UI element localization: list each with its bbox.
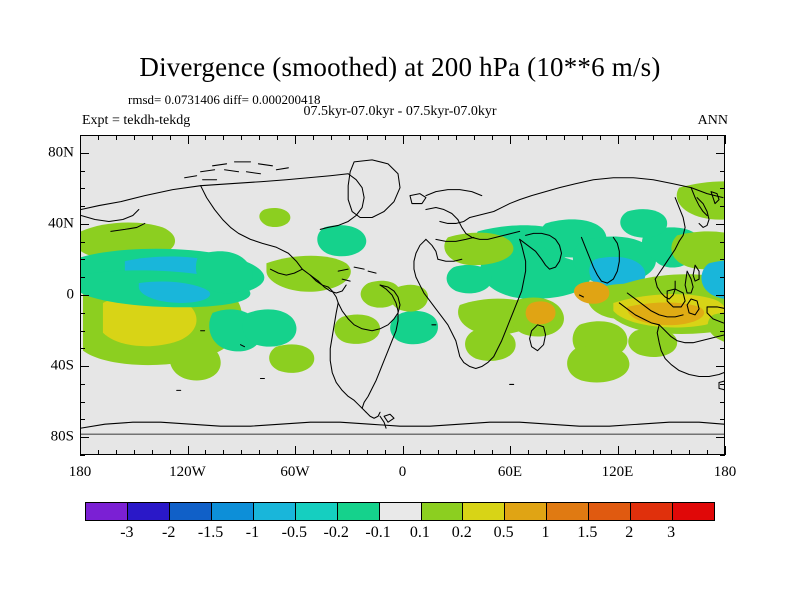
x-tick xyxy=(582,450,583,455)
colorbar-segment-8[interactable] xyxy=(422,503,464,520)
x-tick-top xyxy=(313,135,314,140)
x-tick xyxy=(80,446,81,455)
x-tick xyxy=(134,450,135,455)
y-tick xyxy=(80,171,85,172)
x-tick-top xyxy=(349,135,350,140)
x-tick xyxy=(170,450,171,455)
y-axis-label: 0 xyxy=(36,287,74,304)
x-tick xyxy=(671,450,672,455)
colorbar-tick-label: 2 xyxy=(625,524,633,542)
colorbar-tick-label: -0.2 xyxy=(324,524,349,542)
x-tick-top xyxy=(331,135,332,140)
x-tick xyxy=(635,450,636,455)
contour-satl-green-1 xyxy=(170,343,221,380)
colorbar-tick-label: -1.5 xyxy=(198,524,223,542)
y-tick-right xyxy=(716,224,725,225)
x-tick-top xyxy=(546,135,547,140)
x-tick xyxy=(205,450,206,455)
contour-africa-south-green xyxy=(465,328,516,360)
colorbar-segment-13[interactable] xyxy=(631,503,673,520)
colorbar-segment-10[interactable] xyxy=(505,503,547,520)
y-tick-right xyxy=(720,171,725,172)
x-tick xyxy=(188,446,189,455)
y-tick xyxy=(80,331,85,332)
x-tick-top xyxy=(635,135,636,140)
x-tick-top xyxy=(367,135,368,140)
x-tick-top xyxy=(492,135,493,140)
x-tick xyxy=(600,450,601,455)
experiment-label: Expt = tekdh-tekdg xyxy=(82,113,190,129)
contour-namerica-small xyxy=(259,208,290,227)
x-axis-label: 120E xyxy=(602,464,634,481)
x-tick xyxy=(313,450,314,455)
x-axis-label: 120W xyxy=(169,464,206,481)
contour-japan-cyan xyxy=(620,209,667,238)
x-tick-top xyxy=(223,135,224,140)
x-tick-top xyxy=(385,135,386,140)
y-tick-right xyxy=(720,242,725,243)
y-tick xyxy=(80,224,89,225)
y-tick xyxy=(80,402,85,403)
x-tick xyxy=(223,450,224,455)
x-tick-top xyxy=(456,135,457,140)
x-tick xyxy=(259,450,260,455)
colorbar-segment-1[interactable] xyxy=(128,503,170,520)
y-tick xyxy=(80,259,85,260)
y-tick-right xyxy=(720,419,725,420)
colorbar-tick-label: 0.1 xyxy=(410,524,430,542)
x-tick xyxy=(403,446,404,455)
contour-eq-atlantic-small xyxy=(391,285,429,312)
contour-spac-cyan xyxy=(242,309,296,346)
x-tick-top xyxy=(528,135,529,140)
x-tick-top xyxy=(295,135,296,144)
contour-samerica-green-2 xyxy=(269,344,314,373)
y-tick-right xyxy=(720,384,725,385)
x-tick-top xyxy=(152,135,153,140)
y-tick-right xyxy=(716,437,725,438)
contour-africa-west-cyan xyxy=(447,265,492,294)
x-tick-top xyxy=(671,135,672,140)
contour-sumatra-olive xyxy=(574,282,609,304)
x-tick xyxy=(653,450,654,455)
x-tick xyxy=(725,446,726,455)
x-axis-label: 0 xyxy=(399,464,407,481)
x-tick-top xyxy=(474,135,475,140)
x-tick-top xyxy=(403,135,404,144)
y-tick xyxy=(80,437,89,438)
x-tick-top xyxy=(134,135,135,140)
y-tick xyxy=(80,348,85,349)
y-tick xyxy=(80,242,85,243)
y-tick xyxy=(80,366,89,367)
colorbar-tick-label: -1 xyxy=(246,524,259,542)
y-axis-label: 40S xyxy=(36,358,74,375)
y-tick-right xyxy=(720,313,725,314)
y-tick xyxy=(80,419,85,420)
y-tick-right xyxy=(716,366,725,367)
contour-australia-south xyxy=(567,345,629,382)
x-tick-top xyxy=(618,135,619,144)
colorbar-segment-12[interactable] xyxy=(589,503,631,520)
colorbar-tick-label: 3 xyxy=(667,524,675,542)
x-tick xyxy=(277,450,278,455)
y-tick xyxy=(80,455,85,456)
y-axis-label: 40N xyxy=(36,215,74,232)
x-tick-top xyxy=(564,135,565,140)
x-tick-top xyxy=(582,135,583,140)
colorbar-segment-7[interactable] xyxy=(380,503,422,520)
colorbar-segment-9[interactable] xyxy=(463,503,505,520)
x-tick xyxy=(564,450,565,455)
y-tick xyxy=(80,277,85,278)
x-tick-top xyxy=(725,135,726,144)
colorbar-tick-label: -3 xyxy=(120,524,133,542)
x-tick-top xyxy=(241,135,242,140)
x-tick xyxy=(116,450,117,455)
contour-darwin-green xyxy=(628,328,677,357)
colorbar-segment-0[interactable] xyxy=(86,503,128,520)
y-axis-label: 80N xyxy=(36,144,74,161)
x-axis-label: 180 xyxy=(714,464,737,481)
colorbar-segment-5[interactable] xyxy=(296,503,338,520)
y-tick-right xyxy=(720,188,725,189)
y-tick-right xyxy=(720,348,725,349)
x-tick-top xyxy=(80,135,81,144)
y-tick xyxy=(80,313,85,314)
x-tick xyxy=(241,450,242,455)
y-tick-right xyxy=(716,295,725,296)
colorbar-segment-6[interactable] xyxy=(338,503,380,520)
x-tick xyxy=(456,450,457,455)
x-tick xyxy=(349,450,350,455)
y-tick-right xyxy=(720,455,725,456)
x-tick-top xyxy=(600,135,601,140)
y-tick-right xyxy=(720,206,725,207)
x-tick xyxy=(528,450,529,455)
x-tick xyxy=(295,446,296,455)
x-tick xyxy=(438,450,439,455)
colorbar[interactable] xyxy=(85,502,715,521)
x-axis-label: 60W xyxy=(280,464,309,481)
x-tick-top xyxy=(707,135,708,140)
y-tick-right xyxy=(716,153,725,154)
x-tick-top xyxy=(653,135,654,140)
y-tick xyxy=(80,384,85,385)
x-tick-top xyxy=(205,135,206,140)
x-tick-top xyxy=(170,135,171,140)
colorbar-segment-14[interactable] xyxy=(673,503,714,520)
y-tick-right xyxy=(720,402,725,403)
x-tick-top xyxy=(116,135,117,140)
x-tick-top xyxy=(98,135,99,140)
x-tick xyxy=(420,450,421,455)
x-axis-label: 60E xyxy=(498,464,522,481)
x-tick xyxy=(510,446,511,455)
x-axis-label: 180 xyxy=(69,464,92,481)
colorbar-segment-11[interactable] xyxy=(547,503,589,520)
colorbar-tick-label: -0.5 xyxy=(282,524,307,542)
chart-title: Divergence (smoothed) at 200 hPa (10**6 … xyxy=(0,52,800,83)
x-tick-top xyxy=(277,135,278,140)
x-tick xyxy=(331,450,332,455)
season-label: ANN xyxy=(698,113,728,129)
figure-canvas: Divergence (smoothed) at 200 hPa (10**6 … xyxy=(0,0,800,600)
colorbar-tick-label: -2 xyxy=(162,524,175,542)
x-tick-top xyxy=(420,135,421,140)
y-axis-label: 80S xyxy=(36,429,74,446)
contour-satl-cyan-2 xyxy=(390,311,438,344)
x-tick-top xyxy=(689,135,690,140)
colorbar-tick-label: 0.5 xyxy=(494,524,514,542)
x-tick-top xyxy=(438,135,439,140)
colorbar-segment-4[interactable] xyxy=(254,503,296,520)
y-tick-right xyxy=(720,259,725,260)
y-tick-right xyxy=(720,135,725,136)
x-tick xyxy=(492,450,493,455)
x-tick xyxy=(546,450,547,455)
x-tick xyxy=(707,450,708,455)
colorbar-tick-label: 1 xyxy=(542,524,550,542)
colorbar-tick-label: -0.1 xyxy=(365,524,390,542)
x-tick-top xyxy=(188,135,189,144)
y-tick xyxy=(80,188,85,189)
y-tick xyxy=(80,135,85,136)
contour-brazil-green xyxy=(334,315,380,344)
contour-madagascar-olive xyxy=(526,301,556,324)
colorbar-tick-label: 1.5 xyxy=(577,524,597,542)
x-tick-top xyxy=(510,135,511,144)
y-tick xyxy=(80,153,89,154)
anomaly-shading xyxy=(81,181,724,382)
y-tick xyxy=(80,295,89,296)
x-tick xyxy=(98,450,99,455)
x-tick xyxy=(367,450,368,455)
contour-caribbean-cyan xyxy=(317,225,366,256)
x-tick xyxy=(152,450,153,455)
x-tick xyxy=(689,450,690,455)
x-tick xyxy=(618,446,619,455)
world-map xyxy=(81,136,724,454)
y-tick xyxy=(80,206,85,207)
y-tick-right xyxy=(720,277,725,278)
colorbar-segment-3[interactable] xyxy=(212,503,254,520)
map-plot-area xyxy=(80,135,725,455)
colorbar-tick-label: 0.2 xyxy=(452,524,472,542)
colorbar-segment-2[interactable] xyxy=(170,503,212,520)
x-tick xyxy=(474,450,475,455)
x-tick xyxy=(385,450,386,455)
x-tick-top xyxy=(259,135,260,140)
y-tick-right xyxy=(720,331,725,332)
